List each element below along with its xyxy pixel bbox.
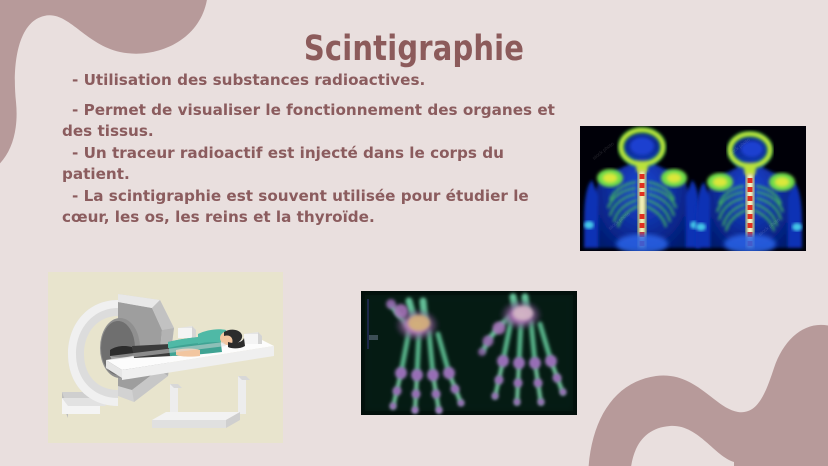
scanner-illustration-image — [48, 272, 283, 443]
page-title: Scintigraphie — [33, 27, 795, 71]
bullet-list: - Utilisation des substances radioactive… — [62, 70, 574, 229]
bullet-item: - Un traceur radioactif est injecté dans… — [62, 143, 574, 186]
bullet-item: - Utilisation des substances radioactive… — [62, 70, 574, 92]
blob-bottom-right-decoration — [578, 272, 828, 466]
hand-scan-image — [361, 291, 577, 415]
bone-scan-image: stock photo stock photo stock photo stoc… — [580, 126, 806, 251]
slide-canvas: Scintigraphie - Utilisation des substanc… — [0, 0, 828, 466]
bullet-item: - La scintigraphie est souvent utilisée … — [62, 186, 574, 229]
bullet-item: - Permet de visualiser le fonctionnement… — [62, 100, 574, 143]
